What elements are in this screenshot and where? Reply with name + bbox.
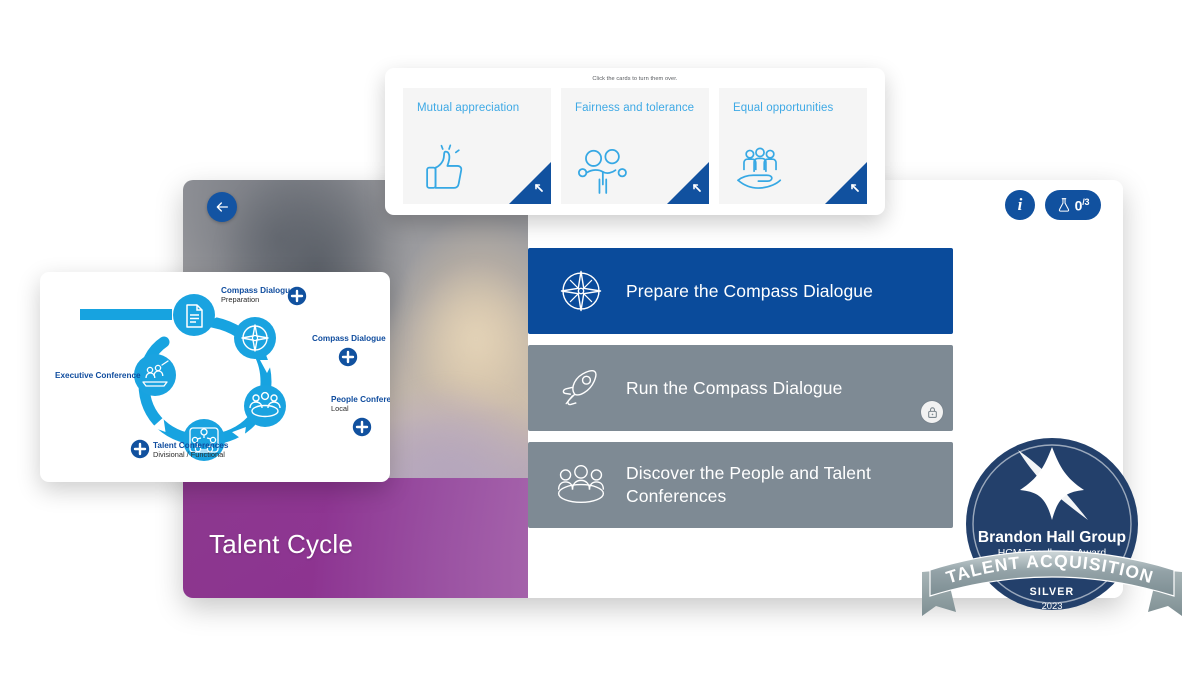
score-text: 0/3 [1075,197,1090,214]
cards-hint-text: Click the cards to turn them over. [397,76,873,82]
cycle-plus-button-compass-dialogue-preparation [288,287,306,305]
flip-arrow-icon [825,162,867,204]
talent-cycle-diagram: Compass Dialogue Preparation Compass Dia… [40,272,390,482]
badge-tier: SILVER [1030,586,1075,598]
content-topbar: i 0/3 [1005,190,1101,220]
action-icon-wrap [554,361,608,415]
award-badge-wrap: Brandon Hall Group HCM Excellence Award … [900,420,1200,645]
cards-row: Mutual appreciation Fairness and toleran… [397,88,873,204]
badge-organization: Brandon Hall Group [978,529,1126,546]
cycle-label-compass-dialogue-preparation-subtitle: Preparation [221,295,259,304]
cycle-label-talent-conferences-subtitle: Divisional / Functional [153,450,225,459]
flip-arrow-icon [509,162,551,204]
flip-arrow-icon [667,162,709,204]
score-pill[interactable]: 0/3 [1045,190,1101,220]
flip-card-mutual-appreciation[interactable]: Mutual appreciation [403,88,551,204]
cycle-label-people-conferences-title: People Conferences [331,395,390,404]
info-button-label: i [1018,195,1023,215]
flip-cards-panel: Click the cards to turn them over. Mutua… [385,68,885,215]
two-people-icon [575,144,629,198]
action-icon-wrap [554,458,608,512]
cycle-label-talent-conferences-title: Talent Conferences [153,441,229,450]
action-label: Run the Compass Dialogue [626,377,842,400]
hand-holding-people-icon [733,144,787,198]
info-button[interactable]: i [1005,190,1035,220]
score-total: /3 [1082,197,1089,207]
page-title: Talent Cycle [209,529,353,560]
action-discover-the-people-and-talent-conferences[interactable]: Discover the People and Talent Conferenc… [528,442,953,528]
flip-card-title: Equal opportunities [733,102,833,114]
flip-card-title: Fairness and tolerance [575,102,694,114]
award-badge: Brandon Hall Group HCM Excellence Award … [900,420,1200,645]
group-of-people-icon [554,460,608,510]
flip-card-equal-opportunities[interactable]: Equal opportunities [719,88,867,204]
back-button[interactable] [207,192,237,222]
flip-card-title: Mutual appreciation [417,102,519,114]
cycle-label-compass-dialogue-preparation-title: Compass Dialogue [221,286,295,295]
action-icon-wrap [554,264,608,318]
flask-icon [1057,197,1071,213]
compass-icon [556,266,606,316]
cycle-plus-button-people-conferences [353,418,371,436]
thumbs-up-icon [417,144,471,198]
rocket-icon [556,363,606,413]
badge-year: 2023 [1042,600,1063,611]
screenshot-root: Talent Cycle i 0/3 [0,0,1200,675]
action-label: Prepare the Compass Dialogue [626,280,873,303]
action-label: Discover the People and Talent Conferenc… [626,462,935,508]
action-prepare-the-compass-dialogue[interactable]: Prepare the Compass Dialogue [528,248,953,334]
flip-card-fairness-and-tolerance[interactable]: Fairness and tolerance [561,88,709,204]
cycle-plus-button-talent-conferences [131,440,149,458]
cycle-label-people-conferences-subtitle: Local [331,404,349,413]
cycle-label-executive-conference: Executive Conference [55,371,141,380]
cycle-label-compass-dialogue: Compass Dialogue [312,334,386,343]
action-list: Prepare the Compass Dialogue Run the Co [528,248,953,528]
padlock-icon [927,406,938,419]
talent-cycle-diagram-card: Compass Dialogue Preparation Compass Dia… [40,272,390,482]
arrow-left-icon [214,199,230,215]
action-run-the-compass-dialogue[interactable]: Run the Compass Dialogue [528,345,953,431]
cycle-node-compass-dialogue [234,317,276,359]
cycle-plus-button-compass-dialogue [339,348,357,366]
